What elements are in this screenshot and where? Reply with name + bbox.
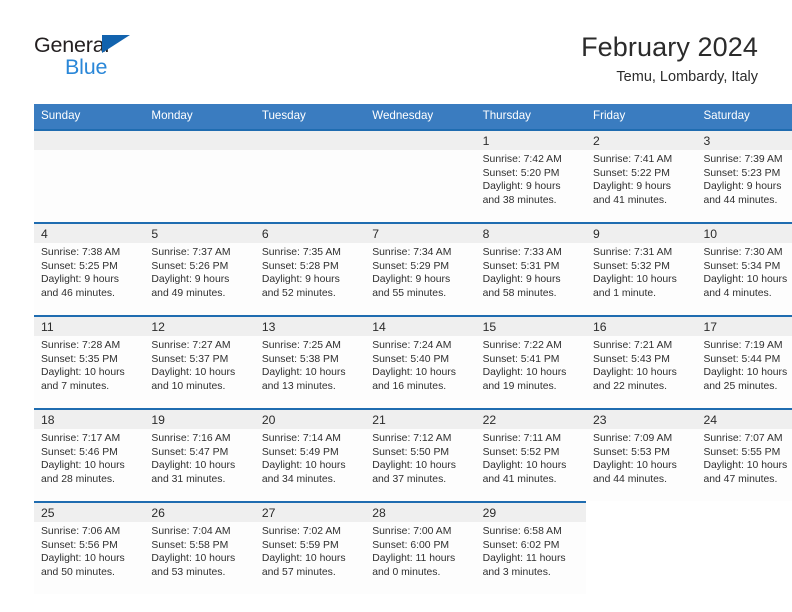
- calendar-cell: 23Sunrise: 7:09 AMSunset: 5:53 PMDayligh…: [586, 408, 696, 501]
- daylight-text-line1: Daylight: 9 hours: [593, 180, 691, 194]
- daylight-text-line2: and 10 minutes.: [151, 380, 249, 394]
- calendar-day-cell[interactable]: 1Sunrise: 7:42 AMSunset: 5:20 PMDaylight…: [476, 129, 586, 222]
- day-number: [144, 131, 254, 150]
- calendar-cell-empty: [586, 501, 696, 594]
- day-number: [365, 131, 475, 150]
- calendar-cell-blank-wrap: [34, 129, 144, 222]
- day-number: 18: [34, 410, 144, 429]
- sunrise-text: Sunrise: 7:21 AM: [593, 339, 691, 353]
- day-number: [34, 131, 144, 150]
- daylight-text-line1: Daylight: 10 hours: [703, 366, 792, 380]
- sunrise-text: Sunrise: 7:33 AM: [483, 246, 581, 260]
- calendar-day-cell[interactable]: 24Sunrise: 7:07 AMSunset: 5:55 PMDayligh…: [696, 408, 792, 501]
- sunrise-text: Sunrise: 7:37 AM: [151, 246, 249, 260]
- triangle-icon: [102, 35, 130, 53]
- day-info: Sunrise: 7:28 AMSunset: 5:35 PMDaylight:…: [34, 336, 144, 393]
- day-number: 17: [696, 317, 792, 336]
- calendar-day-cell[interactable]: 20Sunrise: 7:14 AMSunset: 5:49 PMDayligh…: [255, 408, 365, 501]
- sunset-text: Sunset: 5:26 PM: [151, 260, 249, 274]
- sunset-text: Sunset: 6:00 PM: [372, 539, 470, 553]
- calendar-cell-blank: [144, 129, 254, 222]
- daylight-text-line2: and 1 minute.: [593, 287, 691, 301]
- daylight-text-line2: and 7 minutes.: [41, 380, 139, 394]
- sunrise-text: Sunrise: 7:17 AM: [41, 432, 139, 446]
- day-number: 26: [144, 503, 254, 522]
- daylight-text-line1: Daylight: 10 hours: [593, 459, 691, 473]
- day-number: 23: [586, 410, 696, 429]
- daylight-text-line1: Daylight: 9 hours: [41, 273, 139, 287]
- daylight-text-line1: Daylight: 10 hours: [703, 273, 792, 287]
- calendar-day-cell[interactable]: 28Sunrise: 7:00 AMSunset: 6:00 PMDayligh…: [365, 501, 475, 594]
- daylight-text-line1: Daylight: 10 hours: [703, 459, 792, 473]
- sunset-text: Sunset: 5:59 PM: [262, 539, 360, 553]
- daylight-text-line2: and 41 minutes.: [483, 473, 581, 487]
- day-info: Sunrise: 7:30 AMSunset: 5:34 PMDaylight:…: [696, 243, 792, 300]
- calendar-cell: 7Sunrise: 7:34 AMSunset: 5:29 PMDaylight…: [365, 222, 475, 315]
- daylight-text-line2: and 49 minutes.: [151, 287, 249, 301]
- sunset-text: Sunset: 5:38 PM: [262, 353, 360, 367]
- day-number: 4: [34, 224, 144, 243]
- sunrise-text: Sunrise: 7:22 AM: [483, 339, 581, 353]
- daylight-text-line1: Daylight: 9 hours: [151, 273, 249, 287]
- sunrise-text: Sunrise: 7:07 AM: [703, 432, 792, 446]
- day-info: Sunrise: 7:16 AMSunset: 5:47 PMDaylight:…: [144, 429, 254, 486]
- daylight-text-line1: Daylight: 10 hours: [151, 366, 249, 380]
- sunset-text: Sunset: 5:50 PM: [372, 446, 470, 460]
- calendar-day-cell[interactable]: 26Sunrise: 7:04 AMSunset: 5:58 PMDayligh…: [144, 501, 254, 594]
- calendar-day-cell[interactable]: 15Sunrise: 7:22 AMSunset: 5:41 PMDayligh…: [476, 315, 586, 408]
- sunrise-text: Sunrise: 7:04 AM: [151, 525, 249, 539]
- daylight-text-line2: and 22 minutes.: [593, 380, 691, 394]
- day-info: Sunrise: 7:25 AMSunset: 5:38 PMDaylight:…: [255, 336, 365, 393]
- sunrise-text: Sunrise: 7:24 AM: [372, 339, 470, 353]
- calendar-cell: 26Sunrise: 7:04 AMSunset: 5:58 PMDayligh…: [144, 501, 254, 594]
- day-info: Sunrise: 7:17 AMSunset: 5:46 PMDaylight:…: [34, 429, 144, 486]
- day-info: Sunrise: 7:35 AMSunset: 5:28 PMDaylight:…: [255, 243, 365, 300]
- sunset-text: Sunset: 6:02 PM: [483, 539, 581, 553]
- day-number: 9: [586, 224, 696, 243]
- daylight-text-line1: Daylight: 10 hours: [41, 366, 139, 380]
- daylight-text-line2: and 25 minutes.: [703, 380, 792, 394]
- daylight-text-line1: Daylight: 10 hours: [483, 459, 581, 473]
- calendar-day-cell[interactable]: 11Sunrise: 7:28 AMSunset: 5:35 PMDayligh…: [34, 315, 144, 408]
- sunset-text: Sunset: 5:58 PM: [151, 539, 249, 553]
- calendar-cell: 6Sunrise: 7:35 AMSunset: 5:28 PMDaylight…: [255, 222, 365, 315]
- daylight-text-line2: and 53 minutes.: [151, 566, 249, 580]
- daylight-text-line2: and 13 minutes.: [262, 380, 360, 394]
- calendar-cell-blank-wrap: [144, 129, 254, 222]
- calendar-day-cell[interactable]: 7Sunrise: 7:34 AMSunset: 5:29 PMDaylight…: [365, 222, 475, 315]
- calendar-cell: 16Sunrise: 7:21 AMSunset: 5:43 PMDayligh…: [586, 315, 696, 408]
- calendar-cell: 8Sunrise: 7:33 AMSunset: 5:31 PMDaylight…: [476, 222, 586, 315]
- sunset-text: Sunset: 5:41 PM: [483, 353, 581, 367]
- sunrise-text: Sunrise: 7:02 AM: [262, 525, 360, 539]
- day-number: 15: [476, 317, 586, 336]
- sunset-text: Sunset: 5:43 PM: [593, 353, 691, 367]
- daylight-text-line1: Daylight: 10 hours: [151, 459, 249, 473]
- calendar-cell: 19Sunrise: 7:16 AMSunset: 5:47 PMDayligh…: [144, 408, 254, 501]
- daylight-text-line1: Daylight: 10 hours: [372, 366, 470, 380]
- day-info: Sunrise: 7:27 AMSunset: 5:37 PMDaylight:…: [144, 336, 254, 393]
- calendar-cell-blank: [365, 129, 475, 222]
- calendar-day-cell[interactable]: 27Sunrise: 7:02 AMSunset: 5:59 PMDayligh…: [255, 501, 365, 594]
- sunset-text: Sunset: 5:53 PM: [593, 446, 691, 460]
- day-info: Sunrise: 6:58 AMSunset: 6:02 PMDaylight:…: [476, 522, 586, 579]
- day-number: 5: [144, 224, 254, 243]
- calendar-day-cell[interactable]: 16Sunrise: 7:21 AMSunset: 5:43 PMDayligh…: [586, 315, 696, 408]
- daylight-text-line2: and 44 minutes.: [593, 473, 691, 487]
- page-header: General Blue February 2024 Temu, Lombard…: [34, 30, 758, 96]
- day-info: Sunrise: 7:31 AMSunset: 5:32 PMDaylight:…: [586, 243, 696, 300]
- daylight-text-line1: Daylight: 9 hours: [372, 273, 470, 287]
- day-info: Sunrise: 7:33 AMSunset: 5:31 PMDaylight:…: [476, 243, 586, 300]
- day-number: 12: [144, 317, 254, 336]
- empty-cell-filler: [696, 501, 792, 594]
- day-info: Sunrise: 7:37 AMSunset: 5:26 PMDaylight:…: [144, 243, 254, 300]
- day-info: Sunrise: 7:39 AMSunset: 5:23 PMDaylight:…: [696, 150, 792, 207]
- sunset-text: Sunset: 5:32 PM: [593, 260, 691, 274]
- calendar-day-cell[interactable]: 5Sunrise: 7:37 AMSunset: 5:26 PMDaylight…: [144, 222, 254, 315]
- sunrise-text: Sunrise: 7:19 AM: [703, 339, 792, 353]
- daylight-text-line1: Daylight: 10 hours: [262, 552, 360, 566]
- day-info: Sunrise: 7:19 AMSunset: 5:44 PMDaylight:…: [696, 336, 792, 393]
- daylight-text-line2: and 52 minutes.: [262, 287, 360, 301]
- title-block: February 2024 Temu, Lombardy, Italy: [581, 30, 758, 88]
- daylight-text-line1: Daylight: 10 hours: [262, 459, 360, 473]
- calendar-body: 1Sunrise: 7:42 AMSunset: 5:20 PMDaylight…: [34, 129, 792, 594]
- weekday-header-thursday: Thursday: [476, 104, 586, 129]
- calendar-cell: 17Sunrise: 7:19 AMSunset: 5:44 PMDayligh…: [696, 315, 792, 408]
- calendar-cell: 2Sunrise: 7:41 AMSunset: 5:22 PMDaylight…: [586, 129, 696, 222]
- daylight-text-line2: and 4 minutes.: [703, 287, 792, 301]
- daylight-text-line1: Daylight: 9 hours: [483, 273, 581, 287]
- weekday-header-wednesday: Wednesday: [365, 104, 475, 129]
- day-info: Sunrise: 7:00 AMSunset: 6:00 PMDaylight:…: [365, 522, 475, 579]
- day-number: 14: [365, 317, 475, 336]
- sunrise-text: Sunrise: 7:42 AM: [483, 153, 581, 167]
- calendar-day-cell[interactable]: 8Sunrise: 7:33 AMSunset: 5:31 PMDaylight…: [476, 222, 586, 315]
- sunrise-text: Sunrise: 7:38 AM: [41, 246, 139, 260]
- calendar-day-cell[interactable]: 13Sunrise: 7:25 AMSunset: 5:38 PMDayligh…: [255, 315, 365, 408]
- calendar-cell: 20Sunrise: 7:14 AMSunset: 5:49 PMDayligh…: [255, 408, 365, 501]
- sunrise-text: Sunrise: 7:39 AM: [703, 153, 792, 167]
- calendar-cell: 13Sunrise: 7:25 AMSunset: 5:38 PMDayligh…: [255, 315, 365, 408]
- day-info: Sunrise: 7:38 AMSunset: 5:25 PMDaylight:…: [34, 243, 144, 300]
- sunrise-text: Sunrise: 7:16 AM: [151, 432, 249, 446]
- day-info: Sunrise: 7:22 AMSunset: 5:41 PMDaylight:…: [476, 336, 586, 393]
- daylight-text-line2: and 55 minutes.: [372, 287, 470, 301]
- daylight-text-line1: Daylight: 10 hours: [41, 459, 139, 473]
- sunrise-text: Sunrise: 7:09 AM: [593, 432, 691, 446]
- sunrise-text: Sunrise: 7:28 AM: [41, 339, 139, 353]
- daylight-text-line2: and 0 minutes.: [372, 566, 470, 580]
- daylight-text-line2: and 44 minutes.: [703, 194, 792, 208]
- calendar-cell-blank: [255, 129, 365, 222]
- calendar-day-cell[interactable]: 6Sunrise: 7:35 AMSunset: 5:28 PMDaylight…: [255, 222, 365, 315]
- weekday-header-tuesday: Tuesday: [255, 104, 365, 129]
- calendar-cell: 10Sunrise: 7:30 AMSunset: 5:34 PMDayligh…: [696, 222, 792, 315]
- calendar-cell: 15Sunrise: 7:22 AMSunset: 5:41 PMDayligh…: [476, 315, 586, 408]
- empty-cell-filler: [586, 501, 696, 594]
- daylight-text-line2: and 31 minutes.: [151, 473, 249, 487]
- day-number: 20: [255, 410, 365, 429]
- calendar-cell-empty: [696, 501, 792, 594]
- weekday-header-sunday: Sunday: [34, 104, 144, 129]
- sunset-text: Sunset: 5:20 PM: [483, 167, 581, 181]
- calendar-week-row: 25Sunrise: 7:06 AMSunset: 5:56 PMDayligh…: [34, 501, 792, 594]
- daylight-text-line2: and 28 minutes.: [41, 473, 139, 487]
- calendar-cell: 14Sunrise: 7:24 AMSunset: 5:40 PMDayligh…: [365, 315, 475, 408]
- day-info: Sunrise: 7:09 AMSunset: 5:53 PMDaylight:…: [586, 429, 696, 486]
- calendar-day-cell[interactable]: 9Sunrise: 7:31 AMSunset: 5:32 PMDaylight…: [586, 222, 696, 315]
- calendar-cell-blank-wrap: [255, 129, 365, 222]
- daylight-text-line1: Daylight: 10 hours: [41, 552, 139, 566]
- day-info: Sunrise: 7:06 AMSunset: 5:56 PMDaylight:…: [34, 522, 144, 579]
- calendar-table: Sunday Monday Tuesday Wednesday Thursday…: [34, 104, 792, 594]
- calendar-cell: 25Sunrise: 7:06 AMSunset: 5:56 PMDayligh…: [34, 501, 144, 594]
- day-number: [255, 131, 365, 150]
- sunrise-text: Sunrise: 7:06 AM: [41, 525, 139, 539]
- calendar-cell: 21Sunrise: 7:12 AMSunset: 5:50 PMDayligh…: [365, 408, 475, 501]
- calendar-cell: 4Sunrise: 7:38 AMSunset: 5:25 PMDaylight…: [34, 222, 144, 315]
- day-number: 28: [365, 503, 475, 522]
- brand-name-blue: Blue: [65, 55, 254, 79]
- sunset-text: Sunset: 5:37 PM: [151, 353, 249, 367]
- daylight-text-line1: Daylight: 9 hours: [703, 180, 792, 194]
- weekday-header-saturday: Saturday: [696, 104, 792, 129]
- day-info: Sunrise: 7:14 AMSunset: 5:49 PMDaylight:…: [255, 429, 365, 486]
- day-number: 8: [476, 224, 586, 243]
- day-info: Sunrise: 7:24 AMSunset: 5:40 PMDaylight:…: [365, 336, 475, 393]
- calendar-day-cell[interactable]: 21Sunrise: 7:12 AMSunset: 5:50 PMDayligh…: [365, 408, 475, 501]
- sunrise-text: Sunrise: 7:35 AM: [262, 246, 360, 260]
- calendar-week-row: 4Sunrise: 7:38 AMSunset: 5:25 PMDaylight…: [34, 222, 792, 315]
- sunrise-text: Sunrise: 6:58 AM: [483, 525, 581, 539]
- daylight-text-line1: Daylight: 10 hours: [151, 552, 249, 566]
- sunset-text: Sunset: 5:29 PM: [372, 260, 470, 274]
- sunset-text: Sunset: 5:56 PM: [41, 539, 139, 553]
- page-title: February 2024: [581, 30, 758, 64]
- day-info: Sunrise: 7:42 AMSunset: 5:20 PMDaylight:…: [476, 150, 586, 207]
- sunset-text: Sunset: 5:25 PM: [41, 260, 139, 274]
- calendar-cell: 3Sunrise: 7:39 AMSunset: 5:23 PMDaylight…: [696, 129, 792, 222]
- daylight-text-line2: and 3 minutes.: [483, 566, 581, 580]
- calendar-cell: 5Sunrise: 7:37 AMSunset: 5:26 PMDaylight…: [144, 222, 254, 315]
- calendar-cell: 1Sunrise: 7:42 AMSunset: 5:20 PMDaylight…: [476, 129, 586, 222]
- weekday-header-friday: Friday: [586, 104, 696, 129]
- sunset-text: Sunset: 5:22 PM: [593, 167, 691, 181]
- daylight-text-line1: Daylight: 10 hours: [593, 273, 691, 287]
- daylight-text-line1: Daylight: 9 hours: [262, 273, 360, 287]
- calendar-cell-blank: [34, 129, 144, 222]
- day-number: 1: [476, 131, 586, 150]
- daylight-text-line2: and 16 minutes.: [372, 380, 470, 394]
- calendar-day-cell[interactable]: 10Sunrise: 7:30 AMSunset: 5:34 PMDayligh…: [696, 222, 792, 315]
- daylight-text-line1: Daylight: 11 hours: [483, 552, 581, 566]
- day-info: Sunrise: 7:07 AMSunset: 5:55 PMDaylight:…: [696, 429, 792, 486]
- daylight-text-line1: Daylight: 10 hours: [483, 366, 581, 380]
- calendar-cell-blank-wrap: [365, 129, 475, 222]
- sunrise-text: Sunrise: 7:00 AM: [372, 525, 470, 539]
- calendar-day-cell[interactable]: 22Sunrise: 7:11 AMSunset: 5:52 PMDayligh…: [476, 408, 586, 501]
- calendar-week-row: 1Sunrise: 7:42 AMSunset: 5:20 PMDaylight…: [34, 129, 792, 222]
- daylight-text-line2: and 38 minutes.: [483, 194, 581, 208]
- calendar-day-cell[interactable]: 14Sunrise: 7:24 AMSunset: 5:40 PMDayligh…: [365, 315, 475, 408]
- sunrise-text: Sunrise: 7:14 AM: [262, 432, 360, 446]
- sunrise-text: Sunrise: 7:31 AM: [593, 246, 691, 260]
- sunset-text: Sunset: 5:31 PM: [483, 260, 581, 274]
- calendar-day-cell[interactable]: 18Sunrise: 7:17 AMSunset: 5:46 PMDayligh…: [34, 408, 144, 501]
- calendar-cell: 18Sunrise: 7:17 AMSunset: 5:46 PMDayligh…: [34, 408, 144, 501]
- sunrise-text: Sunrise: 7:30 AM: [703, 246, 792, 260]
- day-info: Sunrise: 7:34 AMSunset: 5:29 PMDaylight:…: [365, 243, 475, 300]
- sunrise-text: Sunrise: 7:12 AM: [372, 432, 470, 446]
- calendar-cell: 29Sunrise: 6:58 AMSunset: 6:02 PMDayligh…: [476, 501, 586, 594]
- day-number: 24: [696, 410, 792, 429]
- sunset-text: Sunset: 5:28 PM: [262, 260, 360, 274]
- day-info: Sunrise: 7:11 AMSunset: 5:52 PMDaylight:…: [476, 429, 586, 486]
- day-number: 7: [365, 224, 475, 243]
- day-number: 3: [696, 131, 792, 150]
- sunset-text: Sunset: 5:23 PM: [703, 167, 792, 181]
- daylight-text-line2: and 58 minutes.: [483, 287, 581, 301]
- day-number: 21: [365, 410, 475, 429]
- sunset-text: Sunset: 5:35 PM: [41, 353, 139, 367]
- daylight-text-line2: and 47 minutes.: [703, 473, 792, 487]
- daylight-text-line2: and 57 minutes.: [262, 566, 360, 580]
- daylight-text-line2: and 46 minutes.: [41, 287, 139, 301]
- day-number: 2: [586, 131, 696, 150]
- calendar-day-cell[interactable]: 17Sunrise: 7:19 AMSunset: 5:44 PMDayligh…: [696, 315, 792, 408]
- brand-logo[interactable]: General Blue: [34, 34, 254, 90]
- sunset-text: Sunset: 5:46 PM: [41, 446, 139, 460]
- sunrise-text: Sunrise: 7:27 AM: [151, 339, 249, 353]
- calendar-cell: 9Sunrise: 7:31 AMSunset: 5:32 PMDaylight…: [586, 222, 696, 315]
- day-number: 27: [255, 503, 365, 522]
- day-info: Sunrise: 7:12 AMSunset: 5:50 PMDaylight:…: [365, 429, 475, 486]
- sunrise-text: Sunrise: 7:25 AM: [262, 339, 360, 353]
- calendar-cell: 12Sunrise: 7:27 AMSunset: 5:37 PMDayligh…: [144, 315, 254, 408]
- calendar-day-cell[interactable]: 2Sunrise: 7:41 AMSunset: 5:22 PMDaylight…: [586, 129, 696, 222]
- weekday-header-row: Sunday Monday Tuesday Wednesday Thursday…: [34, 104, 792, 129]
- day-number: 6: [255, 224, 365, 243]
- sunset-text: Sunset: 5:47 PM: [151, 446, 249, 460]
- daylight-text-line2: and 41 minutes.: [593, 194, 691, 208]
- calendar-day-cell[interactable]: 23Sunrise: 7:09 AMSunset: 5:53 PMDayligh…: [586, 408, 696, 501]
- calendar-day-cell[interactable]: 25Sunrise: 7:06 AMSunset: 5:56 PMDayligh…: [34, 501, 144, 594]
- sunset-text: Sunset: 5:52 PM: [483, 446, 581, 460]
- sunrise-text: Sunrise: 7:11 AM: [483, 432, 581, 446]
- day-info: Sunrise: 7:21 AMSunset: 5:43 PMDaylight:…: [586, 336, 696, 393]
- calendar-day-cell[interactable]: 4Sunrise: 7:38 AMSunset: 5:25 PMDaylight…: [34, 222, 144, 315]
- sunset-text: Sunset: 5:40 PM: [372, 353, 470, 367]
- day-info: Sunrise: 7:41 AMSunset: 5:22 PMDaylight:…: [586, 150, 696, 207]
- sunrise-text: Sunrise: 7:41 AM: [593, 153, 691, 167]
- daylight-text-line2: and 19 minutes.: [483, 380, 581, 394]
- daylight-text-line1: Daylight: 11 hours: [372, 552, 470, 566]
- sunset-text: Sunset: 5:34 PM: [703, 260, 792, 274]
- calendar-day-cell[interactable]: 29Sunrise: 6:58 AMSunset: 6:02 PMDayligh…: [476, 501, 586, 594]
- sunrise-text: Sunrise: 7:34 AM: [372, 246, 470, 260]
- calendar-cell: 11Sunrise: 7:28 AMSunset: 5:35 PMDayligh…: [34, 315, 144, 408]
- day-number: 10: [696, 224, 792, 243]
- calendar-day-cell[interactable]: 19Sunrise: 7:16 AMSunset: 5:47 PMDayligh…: [144, 408, 254, 501]
- day-number: 29: [476, 503, 586, 522]
- calendar-cell: 22Sunrise: 7:11 AMSunset: 5:52 PMDayligh…: [476, 408, 586, 501]
- sunset-text: Sunset: 5:49 PM: [262, 446, 360, 460]
- day-number: 16: [586, 317, 696, 336]
- calendar-page: General Blue February 2024 Temu, Lombard…: [0, 0, 792, 612]
- daylight-text-line2: and 50 minutes.: [41, 566, 139, 580]
- calendar-cell: 27Sunrise: 7:02 AMSunset: 5:59 PMDayligh…: [255, 501, 365, 594]
- daylight-text-line1: Daylight: 9 hours: [483, 180, 581, 194]
- day-number: 25: [34, 503, 144, 522]
- daylight-text-line2: and 34 minutes.: [262, 473, 360, 487]
- day-number: 19: [144, 410, 254, 429]
- day-number: 22: [476, 410, 586, 429]
- daylight-text-line2: and 37 minutes.: [372, 473, 470, 487]
- day-number: 13: [255, 317, 365, 336]
- calendar-week-row: 18Sunrise: 7:17 AMSunset: 5:46 PMDayligh…: [34, 408, 792, 501]
- daylight-text-line1: Daylight: 10 hours: [593, 366, 691, 380]
- daylight-text-line1: Daylight: 10 hours: [372, 459, 470, 473]
- calendar-cell: 28Sunrise: 7:00 AMSunset: 6:00 PMDayligh…: [365, 501, 475, 594]
- calendar-day-cell[interactable]: 12Sunrise: 7:27 AMSunset: 5:37 PMDayligh…: [144, 315, 254, 408]
- day-number: 11: [34, 317, 144, 336]
- calendar-week-row: 11Sunrise: 7:28 AMSunset: 5:35 PMDayligh…: [34, 315, 792, 408]
- day-info: Sunrise: 7:04 AMSunset: 5:58 PMDaylight:…: [144, 522, 254, 579]
- weekday-header-monday: Monday: [144, 104, 254, 129]
- day-info: Sunrise: 7:02 AMSunset: 5:59 PMDaylight:…: [255, 522, 365, 579]
- calendar-cell: 24Sunrise: 7:07 AMSunset: 5:55 PMDayligh…: [696, 408, 792, 501]
- brand-name-general: General: [34, 34, 254, 56]
- sunset-text: Sunset: 5:44 PM: [703, 353, 792, 367]
- calendar-day-cell[interactable]: 3Sunrise: 7:39 AMSunset: 5:23 PMDaylight…: [696, 129, 792, 222]
- daylight-text-line1: Daylight: 10 hours: [262, 366, 360, 380]
- sunset-text: Sunset: 5:55 PM: [703, 446, 792, 460]
- page-subtitle: Temu, Lombardy, Italy: [581, 66, 758, 88]
